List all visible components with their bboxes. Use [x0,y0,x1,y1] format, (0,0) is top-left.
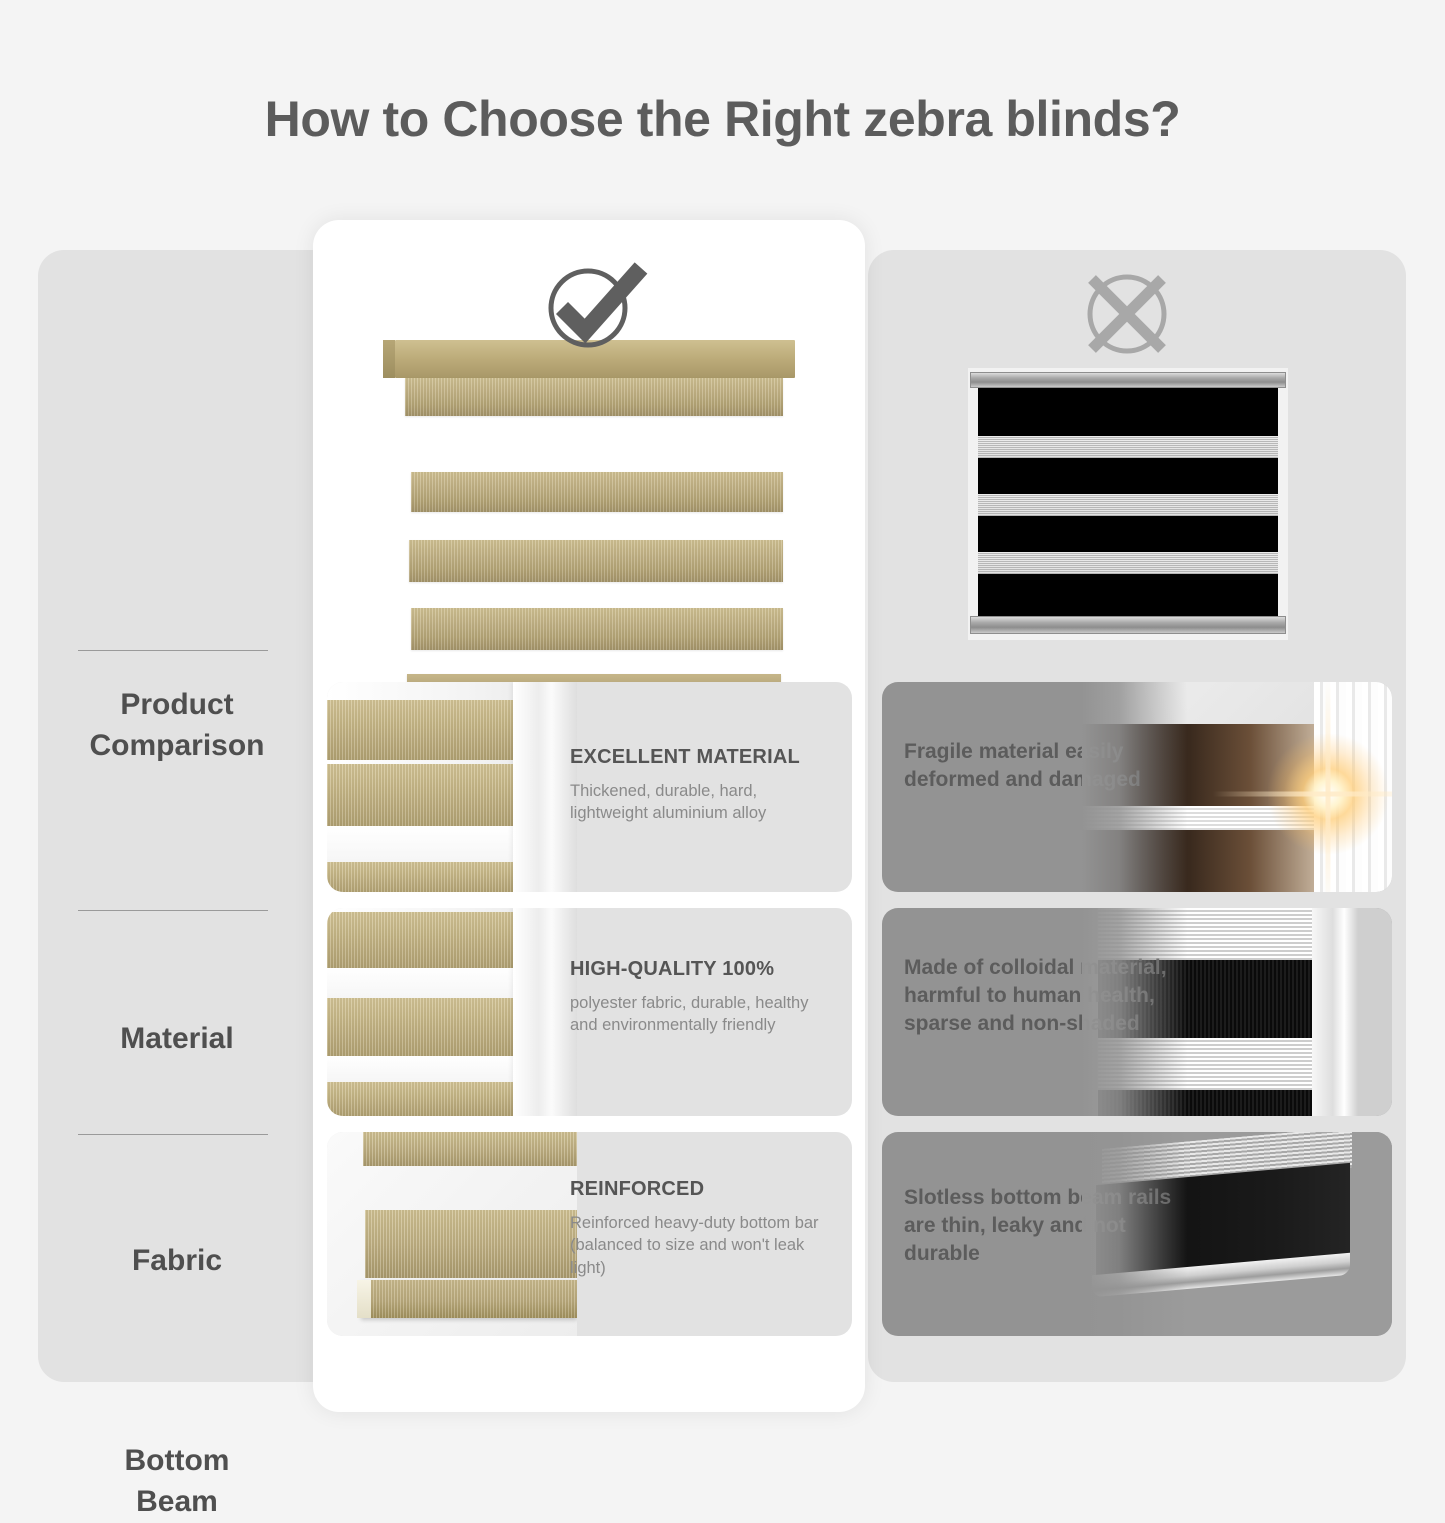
tan-blind-slat [327,700,521,760]
row-label-line1: Material [38,1018,316,1059]
row-label-line1: Product [38,684,316,725]
drawback-card-fabric: Made of colloidal material, harmful to h… [882,908,1392,1116]
tan-blind-fabric-closeup-photo [327,908,577,1116]
feature-text-block: EXCELLENT MATERIAL Thickened, durable, h… [570,682,852,892]
drawback-card-material: Fragile material easily deformed and dam… [882,682,1392,892]
row-divider-3 [78,1134,268,1135]
black-blind-sheer-stripe [978,552,1278,574]
feature-body: polyester fabric, durable, healthy and e… [570,992,828,1037]
tan-blind-slat [363,1132,577,1166]
black-zebra-blind-product-image [968,368,1288,640]
bottom-bar-end-cap [357,1280,371,1318]
drawback-card-bottom-beam: Slotless bottom beam rails are thin, lea… [882,1132,1392,1336]
tan-blind-slat [409,540,783,582]
cross-circle-icon [1078,265,1176,363]
black-blind-sheer-stripe [978,494,1278,516]
row-label-column: Product Comparison Material Fabric Botto… [38,250,316,1382]
check-circle-icon [540,252,650,352]
black-blind-sheer-stripe [978,436,1278,458]
tan-blind-slat [327,764,513,826]
window-jamb [513,908,577,1116]
row-label-line2: Beam [38,1481,316,1522]
sun-flare-icon [1268,734,1388,854]
tan-blind-sheer-stripe [327,826,513,862]
thin-slotless-bottom-rail-photo [1082,1132,1392,1336]
tan-blind-sheer-stripe [327,968,517,998]
tan-blind-slat [411,472,783,512]
feature-body: Reinforced heavy-duty bottom bar (balanc… [570,1212,828,1279]
feature-heading: REINFORCED [570,1178,830,1201]
tan-blind-slat [365,1210,577,1278]
tan-blind-reinforced-bottom-bar [361,1280,577,1318]
tan-blind-sheer-stripe [327,1056,517,1082]
feature-text-block: HIGH-QUALITY 100% polyester fabric, dura… [570,908,852,1116]
sparse-black-white-striped-blind-photo [1082,908,1392,1116]
black-blind-bottom-rail [970,616,1286,634]
tan-blind-slat [327,862,513,892]
photo-fade-overlay [1082,908,1392,1116]
tan-zebra-blind-product-image [383,340,795,670]
row-label-product-comparison: Product Comparison [38,684,316,767]
tan-blind-slat [327,912,517,968]
sun-leaking-through-deformed-blind-photo [1082,682,1392,892]
row-label-bottom-beam: Bottom Beam [38,1440,316,1523]
feature-heading: HIGH-QUALITY 100% [570,958,830,981]
tan-blind-slat [405,378,783,416]
feature-body: Thickened, durable, hard, lightweight al… [570,780,828,825]
feature-text-block: REINFORCED Reinforced heavy-duty bottom … [570,1132,852,1336]
page-title: How to Choose the Right zebra blinds? [0,90,1445,148]
row-label-fabric: Fabric [38,1240,316,1281]
row-label-material: Material [38,1018,316,1059]
row-label-line1: Fabric [38,1240,316,1281]
photo-fade-overlay [1082,1132,1392,1336]
tan-blind-bottom-bar-closeup-photo [327,1132,577,1336]
tan-blind-in-white-window-frame-photo [327,682,577,892]
row-divider-2 [78,910,268,911]
row-label-line2: Comparison [38,725,316,766]
window-jamb [513,682,577,892]
tan-blind-slat [327,998,517,1056]
tan-blind-slat [411,608,783,650]
black-blind-fabric [978,388,1278,618]
feature-heading: EXCELLENT MATERIAL [570,746,830,769]
tan-blind-slat [327,1082,517,1116]
row-label-line1: Bottom [38,1440,316,1481]
feature-card-material: EXCELLENT MATERIAL Thickened, durable, h… [327,682,852,892]
feature-card-bottom-beam: REINFORCED Reinforced heavy-duty bottom … [327,1132,852,1336]
feature-card-fabric: HIGH-QUALITY 100% polyester fabric, dura… [327,908,852,1116]
row-divider-1 [78,650,268,651]
black-blind-headrail [970,372,1286,388]
